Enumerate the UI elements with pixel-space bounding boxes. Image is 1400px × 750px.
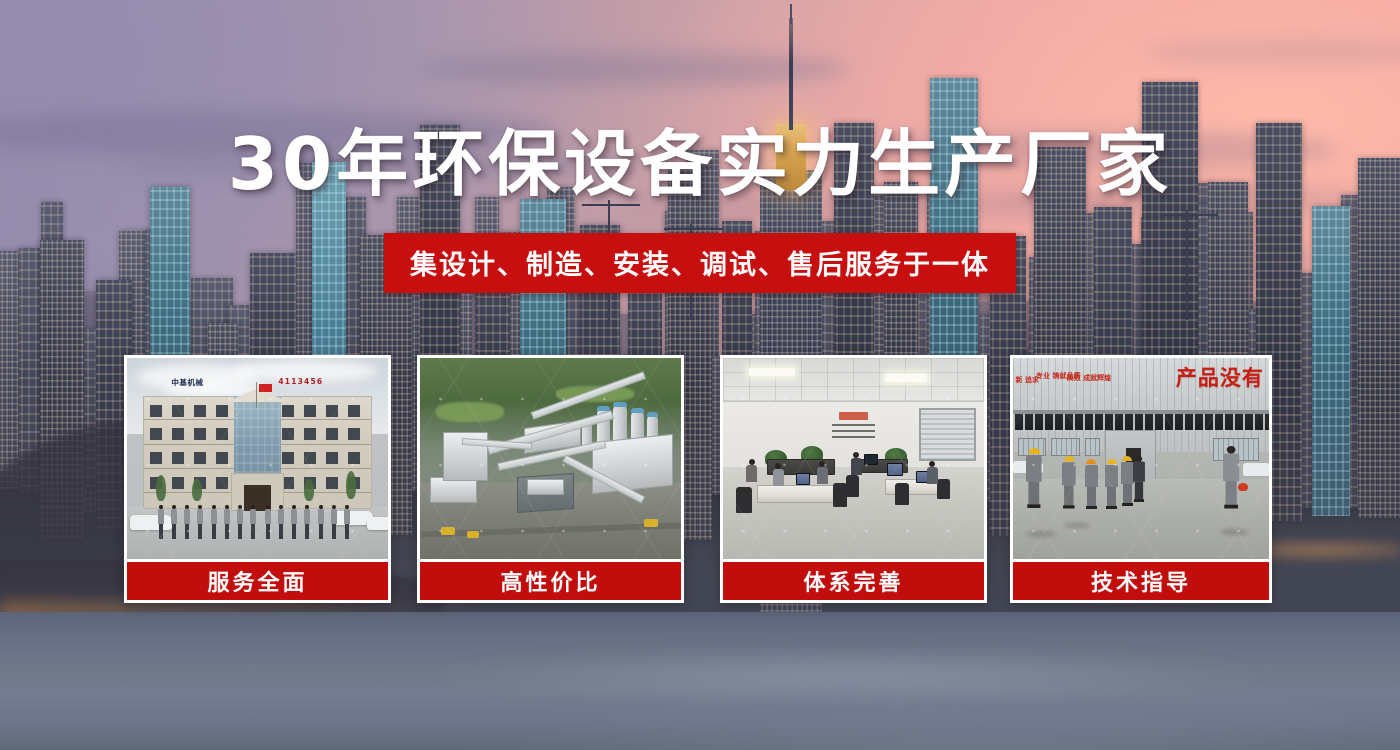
building-phone-text: 4113456 (278, 377, 323, 386)
page-title: 30年环保设备实力生产厂家 (0, 128, 1400, 200)
company-building-staff-photo: 中基机械 4113456 (127, 358, 388, 559)
card-label-value: 高性价比 (417, 559, 684, 603)
card-label-system: 体系完善 (720, 559, 987, 603)
banner-stage: 30年环保设备实力生产厂家 集设计、制造、安装、调试、售后服务于一体 (0, 0, 1400, 750)
factory-wall-text: 产品没有 (1176, 362, 1264, 392)
factory-slogan-3: 高效 成就辉煌 (1067, 374, 1111, 383)
card-label-service: 服务全面 (124, 559, 391, 603)
office-interior-staff-photo (723, 358, 984, 559)
card-label-guidance: 技术指导 (1010, 559, 1272, 603)
feature-card-row: 中基机械 4113456 (124, 355, 1272, 603)
water-reflection (300, 640, 1400, 710)
aerial-industrial-plant-photo (420, 358, 681, 559)
feature-card-value[interactable]: 高性价比 (417, 355, 684, 603)
feature-card-guidance[interactable]: 产品没有 新 追求 专业 铸就品质 高效 成就辉煌 (1010, 355, 1272, 603)
feature-card-system[interactable]: 体系完善 (720, 355, 987, 603)
building-sign-text: 中基机械 (171, 377, 203, 388)
subtitle-container: 集设计、制造、安装、调试、售后服务于一体 (0, 233, 1400, 293)
subtitle-badge: 集设计、制造、安装、调试、售后服务于一体 (384, 233, 1016, 293)
workers-training-factory-photo: 产品没有 新 追求 专业 铸就品质 高效 成就辉煌 (1013, 358, 1269, 559)
feature-card-service[interactable]: 中基机械 4113456 (124, 355, 391, 603)
tower-spire (789, 18, 793, 130)
tower-spire-tip (790, 4, 792, 24)
